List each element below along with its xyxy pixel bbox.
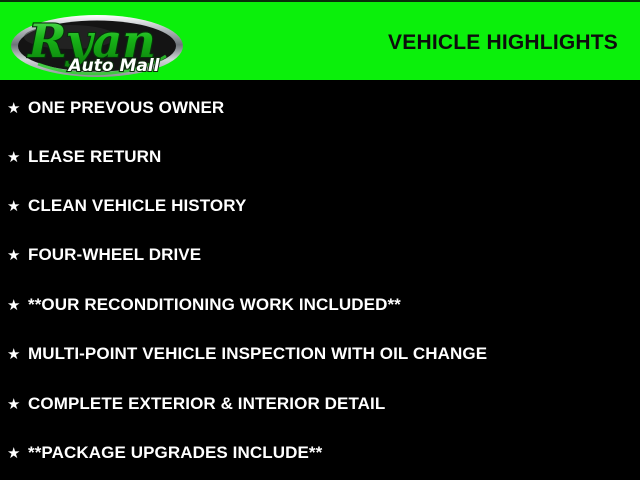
star-bullet-icon: ★ <box>7 150 28 165</box>
list-item-label: **OUR RECONDITIONING WORK INCLUDED** <box>28 295 401 315</box>
list-item-label: ONE PREVOUS OWNER <box>28 98 224 118</box>
list-item-label: CLEAN VEHICLE HISTORY <box>28 196 246 216</box>
ryan-auto-mall-logo: Ryan Auto Mall <box>8 9 186 80</box>
vehicle-highlights-list: ★ ONE PREVOUS OWNER ★ LEASE RETURN ★ CLE… <box>0 80 640 480</box>
list-item: ★ COMPLETE EXTERIOR & INTERIOR DETAIL <box>7 392 385 416</box>
list-item: ★ **OUR RECONDITIONING WORK INCLUDED** <box>7 293 401 317</box>
star-bullet-icon: ★ <box>7 298 28 313</box>
list-item-label: FOUR-WHEEL DRIVE <box>28 245 201 265</box>
list-item: ★ ONE PREVOUS OWNER <box>7 96 224 120</box>
star-bullet-icon: ★ <box>7 397 28 412</box>
list-item: ★ MULTI-POINT VEHICLE INSPECTION WITH OI… <box>7 342 487 366</box>
star-bullet-icon: ★ <box>7 199 28 214</box>
logo-artwork: Ryan Auto Mall <box>8 9 186 80</box>
vehicle-highlights-banner: Ryan Auto Mall VEHICLE HIGHLIGHTS ★ ONE … <box>0 0 640 480</box>
list-item-label: **PACKAGE UPGRADES INCLUDE** <box>28 443 322 463</box>
star-bullet-icon: ★ <box>7 101 28 116</box>
header-band: Ryan Auto Mall VEHICLE HIGHLIGHTS <box>0 0 640 80</box>
page-title: VEHICLE HIGHLIGHTS <box>388 31 618 55</box>
list-item-label: MULTI-POINT VEHICLE INSPECTION WITH OIL … <box>28 344 487 364</box>
list-item: ★ **PACKAGE UPGRADES INCLUDE** <box>7 441 322 465</box>
list-item-label: LEASE RETURN <box>28 147 161 167</box>
list-item: ★ CLEAN VEHICLE HISTORY <box>7 194 246 218</box>
star-bullet-icon: ★ <box>7 446 28 461</box>
star-bullet-icon: ★ <box>7 248 28 263</box>
logo-brand-secondary: Auto Mall <box>66 56 160 76</box>
star-bullet-icon: ★ <box>7 347 28 362</box>
list-item: ★ LEASE RETURN <box>7 145 161 169</box>
list-item: ★ FOUR-WHEEL DRIVE <box>7 243 201 267</box>
list-item-label: COMPLETE EXTERIOR & INTERIOR DETAIL <box>28 394 385 414</box>
